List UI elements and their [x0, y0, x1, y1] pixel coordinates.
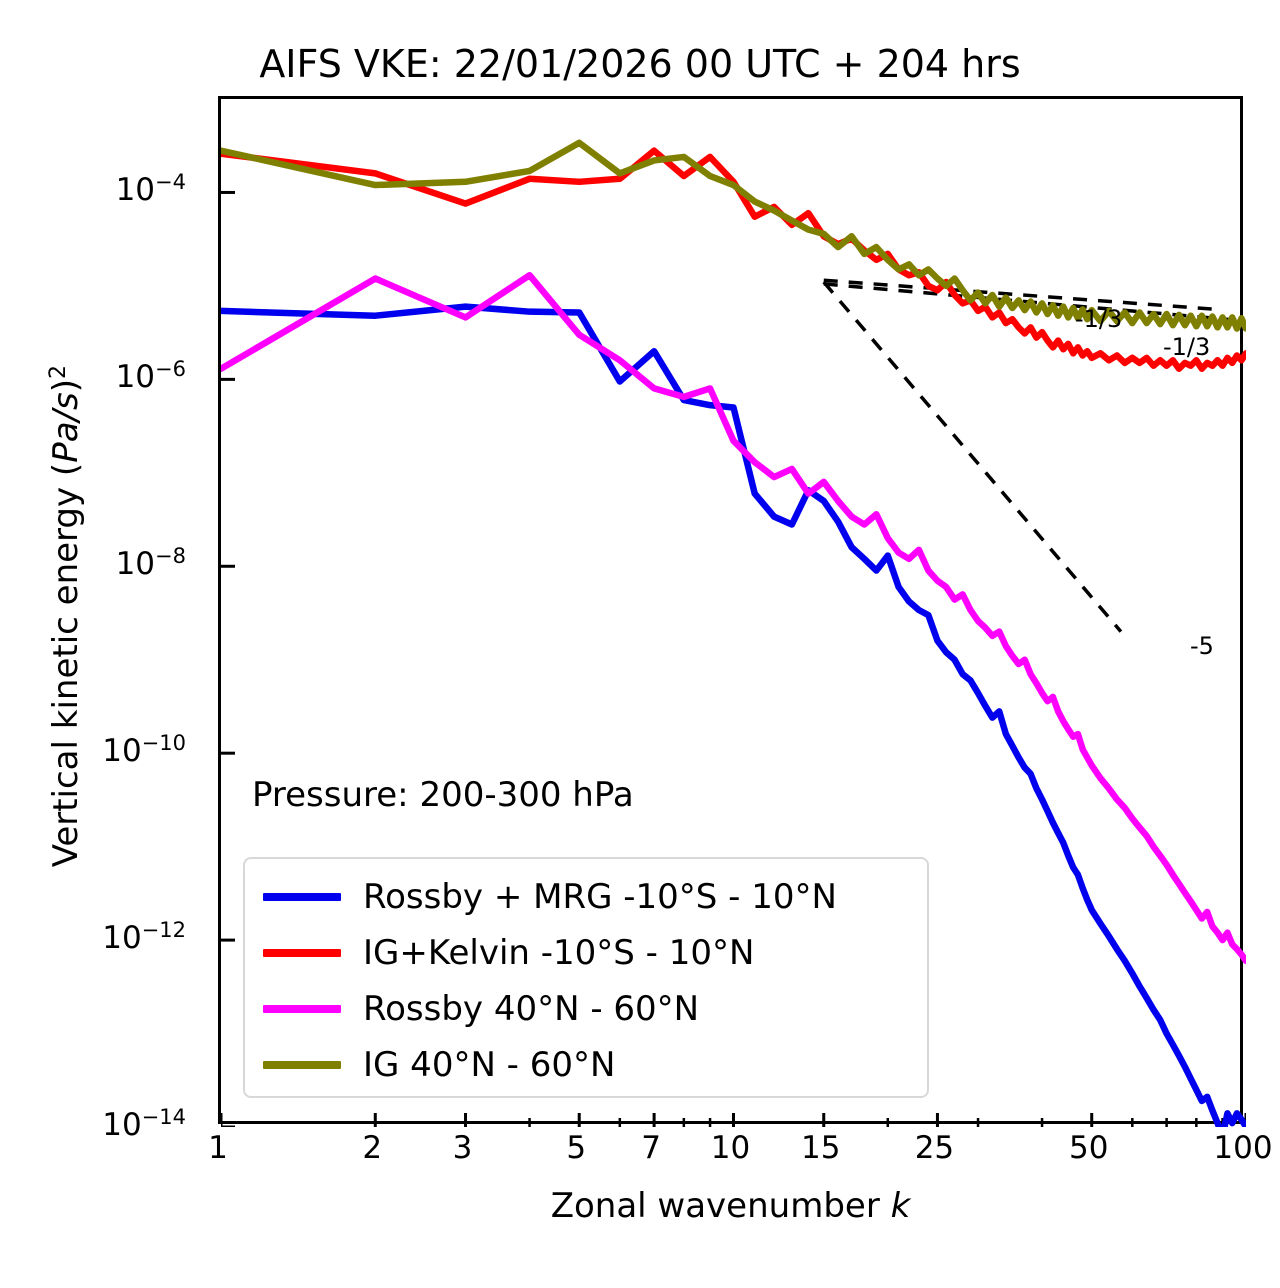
x-tick-label: 10: [711, 1130, 750, 1166]
x-tick-label: 25: [915, 1130, 954, 1166]
y-tick-label: 10−6: [116, 357, 186, 395]
legend-color-swatch: [263, 1005, 341, 1013]
x-tick-label: 2: [362, 1130, 382, 1166]
page-title: AIFS VKE: 22/01/2026 00 UTC + 204 hrs: [0, 42, 1280, 86]
legend-color-swatch: [263, 1061, 341, 1069]
legend-color-swatch: [263, 949, 341, 957]
x-tick-label: 3: [453, 1130, 473, 1166]
reference-line--5: [824, 282, 1121, 632]
slope-label-slope_b: -1/3: [1163, 333, 1210, 361]
x-tick-label: 1: [208, 1130, 228, 1166]
chart-page: AIFS VKE: 22/01/2026 00 UTC + 204 hrs Ve…: [0, 0, 1280, 1288]
legend-color-swatch: [263, 893, 341, 901]
legend-label: IG 40°N - 60°N: [363, 1048, 615, 1082]
pressure-annotation: Pressure: 200-300 hPa: [252, 775, 634, 815]
legend-item[interactable]: IG 40°N - 60°N: [263, 1039, 615, 1091]
legend-label: IG+Kelvin -10°S - 10°N: [363, 936, 754, 970]
x-axis-label-text: Zonal wavenumber: [551, 1186, 891, 1226]
y-tick-label: 10−10: [102, 731, 186, 769]
x-axis-label: Zonal wavenumber k: [218, 1186, 1243, 1226]
y-tick-label: 10−14: [102, 1105, 186, 1143]
legend-item[interactable]: IG+Kelvin -10°S - 10°N: [263, 927, 754, 979]
y-axis-tick-labels: 10−410−610−810−1010−1210−14: [0, 96, 200, 1124]
y-tick-label: 10−12: [102, 918, 186, 956]
x-tick-label: 50: [1069, 1130, 1108, 1166]
slope-label-slope_c: -5: [1190, 632, 1214, 660]
legend: Rossby + MRG -10°S - 10°NIG+Kelvin -10°S…: [243, 857, 929, 1098]
legend-label: Rossby + MRG -10°S - 10°N: [363, 880, 837, 914]
legend-item[interactable]: Rossby 40°N - 60°N: [263, 983, 699, 1035]
x-axis-tick-labels: 1235710152550100: [218, 1130, 1243, 1180]
slope-label-slope_a: -1/3: [1075, 305, 1122, 333]
x-tick-label: 5: [566, 1130, 586, 1166]
legend-item[interactable]: Rossby + MRG -10°S - 10°N: [263, 871, 837, 923]
x-tick-label: 100: [1213, 1130, 1272, 1166]
x-tick-label: 7: [641, 1130, 661, 1166]
x-tick-label: 15: [801, 1130, 840, 1166]
x-axis-label-symbol: k: [891, 1186, 911, 1226]
y-tick-label: 10−8: [116, 544, 186, 582]
legend-label: Rossby 40°N - 60°N: [363, 992, 699, 1026]
y-tick-label: 10−4: [116, 170, 186, 208]
